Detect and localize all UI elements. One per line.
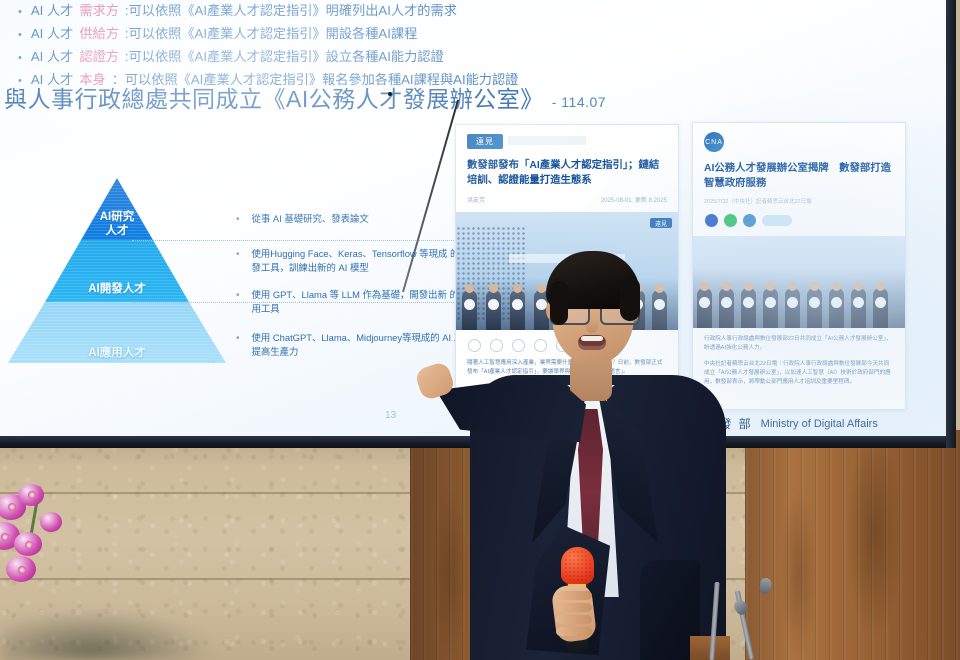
ministry-name-en: Ministry of Digital Affairs: [761, 418, 878, 430]
bullet-row: • AI 人才 供給方 : 可以依照《AI產業人才認定指引》開設各種AI課程: [18, 23, 578, 46]
bullet-body: 可以依照《AI產業人才認定指引》設立各種AI能力認證: [129, 46, 444, 68]
press-conference-scene: • AI 人才 需求方 : 可以依照《AI產業人才認定指引》明確列出AI人才的需…: [0, 0, 960, 660]
orchid-center: [1, 533, 9, 541]
finger: [556, 615, 592, 624]
news-date: 2025-08-01: [601, 198, 632, 204]
logo-placeholder-bar: [508, 136, 586, 145]
bullet-dot-icon: •: [236, 247, 240, 274]
news-byline-row: 洪友芳 2025-08-01 更新 8.2025: [467, 195, 667, 204]
note-text: 從事 AI 基礎研究、發表論文: [252, 212, 369, 227]
talent-pyramid-diagram: AI研究人才 AI開發人才 AI應用人才: [8, 178, 226, 363]
bullet-role: 供給方: [79, 23, 119, 45]
pyramid-label-research: AI研究人才: [8, 210, 226, 238]
orchid-center: [28, 491, 36, 499]
news-headline: AI公務人才發展辦公室揭牌 數發部打造智慧政府服務: [704, 161, 894, 191]
finger: [556, 591, 592, 600]
bullet-body: 可以依照《AI產業人才認定指引》開設各種AI課程: [129, 23, 418, 45]
orchid-center: [18, 566, 26, 574]
screen-frame-right: [946, 0, 956, 448]
raised-arm: [436, 375, 586, 445]
mouth: [578, 335, 606, 350]
presenter: [448, 225, 748, 660]
news-headline: 數發部發布「AI產業人才認定指引」；鏈結培訓、認證能量打造生態系: [467, 158, 667, 188]
pyramid-label-application: AI應用人才: [8, 346, 226, 360]
orchid-bud: [40, 512, 62, 532]
news-author: 洪友芳: [467, 195, 485, 204]
news-meta: 2025/7/22（中央社）記者蘇思云台北22日電: [704, 197, 894, 205]
bullet-role: 需求方: [79, 0, 119, 22]
foreground-blur: [0, 590, 300, 660]
bullet-body: 可以依照《AI產業人才認定指引》明確列出AI人才的需求: [129, 0, 457, 22]
slide-bullet-list: • AI 人才 需求方 : 可以依照《AI產業人才認定指引》明確列出AI人才的需…: [18, 0, 578, 92]
microphone-windscreen: [561, 547, 594, 584]
finger: [556, 603, 592, 612]
slide-title-date: - 114.07: [552, 94, 606, 110]
yuanjian-logo-icon: 遠見: [467, 134, 503, 149]
bullet-dot-icon: •: [236, 212, 240, 227]
slide-title: 與人事行政總處共同成立《AI公務人才發展辦公室》: [4, 86, 544, 112]
bullet-row: • AI 人才 認證方 : 可以依照《AI產業人才認定指引》設立各種AI能力認證: [18, 46, 578, 69]
bullet-dot-icon: •: [18, 47, 22, 69]
more-pill[interactable]: [762, 215, 792, 226]
bullet-subject: AI 人才: [31, 46, 74, 68]
bullet-dot-icon: •: [236, 288, 240, 315]
slide-page-number: 13: [385, 410, 396, 421]
wood-panel-right: [745, 430, 960, 660]
bullet-dot-icon: •: [18, 24, 22, 46]
orchid-center: [8, 503, 16, 511]
cna-logo-icon: CNA: [704, 132, 724, 152]
orchid-flowers: [0, 478, 84, 588]
bullet-role: 認證方: [79, 46, 119, 68]
bullet-dot-icon: •: [236, 331, 240, 358]
orchid-center: [25, 541, 33, 549]
bullet-row: • AI 人才 需求方 : 可以依照《AI產業人才認定指引》明確列出AI人才的需…: [18, 0, 578, 23]
bullet-dot-icon: •: [18, 1, 22, 23]
finger: [556, 627, 592, 636]
bullet-subject: AI 人才: [31, 0, 74, 22]
pointer-tip-icon: [388, 92, 392, 96]
news-updated: 更新 8.2025: [635, 198, 667, 204]
hair-side: [620, 277, 640, 321]
bullet-subject: AI 人才: [31, 23, 74, 45]
slide-title-row: 與人事行政總處共同成立《AI公務人才發展辦公室》- 114.07: [4, 80, 606, 114]
pyramid-label-development: AI開發人才: [8, 282, 226, 296]
